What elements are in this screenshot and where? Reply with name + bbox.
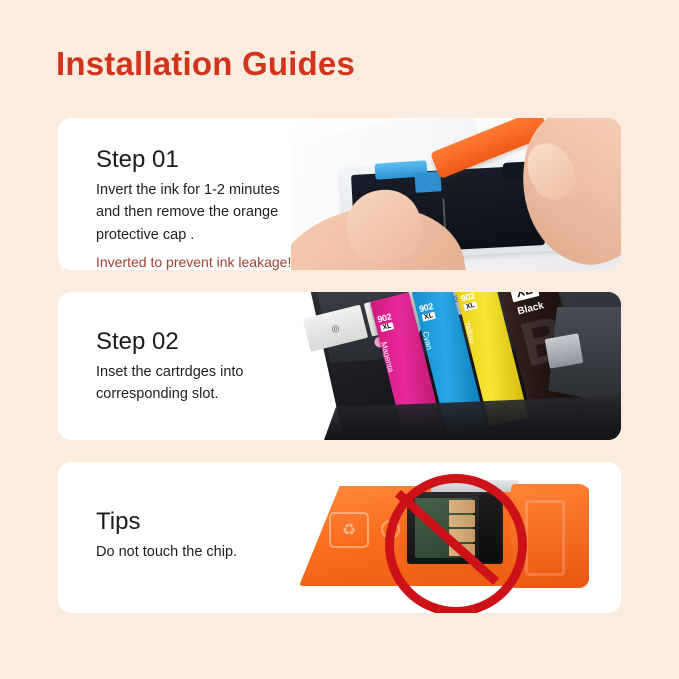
cartridge-color-name: Black [517, 300, 546, 317]
step-card-1: Step 01 Invert the ink for 1-2 minutes a… [58, 118, 621, 270]
step-1-warning: Inverted to prevent ink leakage! [96, 252, 291, 270]
page-title: Installation Guides [56, 45, 355, 83]
step-2-text-block: Step 02 Inset the cartrdges into corresp… [96, 330, 244, 406]
step-card-3: ♻ Tips Do not touch the chip. [58, 462, 621, 613]
cartridge-size: XL [464, 301, 478, 311]
cartridge-cap-removal-photo [291, 118, 621, 270]
recycle-icon: ♻ [329, 512, 369, 548]
tips-label: Tips [96, 510, 237, 534]
step-3-text-block: Tips Do not touch the chip. [96, 510, 237, 563]
step-2-label: Step 02 [96, 330, 244, 354]
cartridge-size: XL [509, 292, 539, 302]
installation-guides-page: Installation Guides Step 01 Invert the i… [0, 0, 679, 679]
do-not-touch-chip-photo: ♻ [281, 462, 621, 613]
tips-body: Do not touch the chip. [96, 541, 237, 563]
cartridge-color-name: Cyan [421, 330, 434, 350]
cartridge-size: XL [380, 322, 394, 332]
photo-background: ♻ [281, 462, 621, 613]
cartridge-size: XL [422, 312, 436, 322]
step-1-body: Invert the ink for 1-2 minutes and then … [96, 179, 291, 246]
step-card-2: ◎ ◎ ◎ 902 XL Magenta 902 [58, 292, 621, 440]
step-1-label: Step 01 [96, 148, 291, 172]
step-2-body: Inset the cartrdges into corresponding s… [96, 361, 244, 406]
cartridge-blue-tab [414, 171, 441, 193]
photo-background: ◎ ◎ ◎ 902 XL Magenta 902 [291, 292, 621, 440]
step-1-text-block: Step 01 Invert the ink for 1-2 minutes a… [96, 148, 291, 270]
printer-carriage-photo: ◎ ◎ ◎ 902 XL Magenta 902 [291, 292, 621, 440]
